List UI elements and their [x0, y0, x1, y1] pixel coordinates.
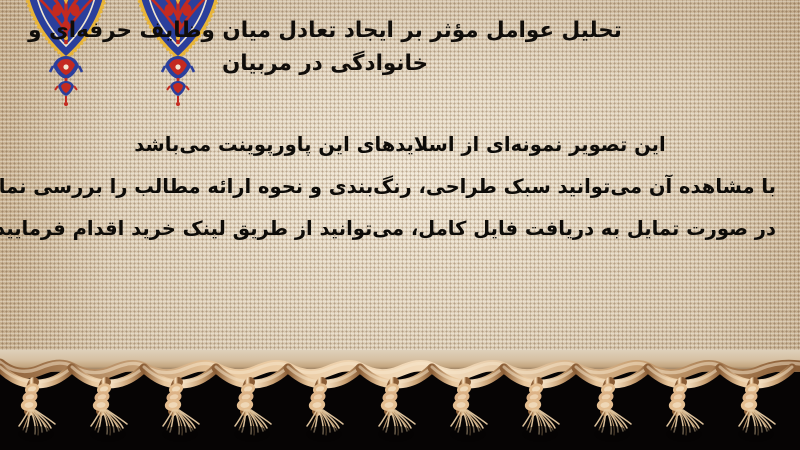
- fringe-tassel: [504, 367, 576, 442]
- fringe-tassel: [360, 367, 432, 442]
- slide-title: تحلیل عوامل مؤثر بر ایجاد تعادل میان وظا…: [24, 14, 776, 80]
- fringe-tassel: [216, 367, 288, 442]
- presentation-slide: تحلیل عوامل مؤثر بر ایجاد تعادل میان وظا…: [0, 0, 800, 450]
- carpet-fringe: [0, 350, 800, 450]
- slide-body-line-1: این تصویر نمونه‌ای از اسلایدهای این پاور…: [24, 124, 776, 166]
- slide-body-line-2: با مشاهده آن می‌توانید سبک طراحی، رنگ‌بن…: [24, 166, 776, 208]
- fringe-tassel: [648, 367, 720, 442]
- fringe-tassel: [144, 367, 216, 442]
- slide-title-line-2: خانوادگی در مربیان: [24, 47, 626, 80]
- fringe-tassel: [72, 367, 144, 442]
- slide-body-line-3: در صورت تمایل به دریافت فایل کامل، می‌تو…: [24, 208, 776, 250]
- carpet-bottom-band: [0, 350, 800, 450]
- slide-body: این تصویر نمونه‌ای از اسلایدهای این پاور…: [24, 124, 776, 250]
- slide-text-area: تحلیل عوامل مؤثر بر ایجاد تعادل میان وظا…: [0, 0, 800, 352]
- fringe-tassel: [720, 367, 792, 442]
- slide-title-line-1: تحلیل عوامل مؤثر بر ایجاد تعادل میان وظا…: [24, 14, 626, 47]
- fringe-tassel: [288, 367, 360, 442]
- fringe-tassel: [432, 367, 504, 442]
- fringe-tassel: [576, 367, 648, 442]
- fringe-tassel: [0, 367, 72, 442]
